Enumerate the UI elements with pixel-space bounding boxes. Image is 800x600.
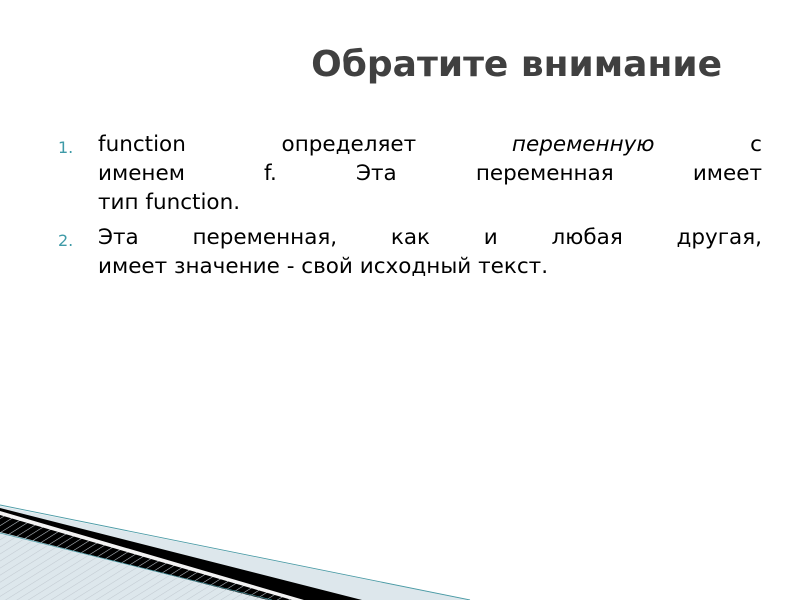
line-text: тип function. [98,190,240,215]
list-item: 2. Эта переменная, как и любая другая, и… [56,223,762,281]
decoration-outline [0,533,272,600]
slide: Обратите внимание 1. function определяет… [0,0,800,600]
decoration-band [0,506,468,600]
decoration-wedge [0,508,362,600]
list-item-line: имеет значение - свой исходный текст. [98,252,762,281]
body-list: 1. function определяет переменную с имен… [56,130,762,287]
list-marker: 2. [58,226,88,255]
list-item: 1. function определяет переменную с имен… [56,130,762,217]
decoration-outline [0,505,470,600]
line-text: function определяет [98,132,512,157]
list-item-line: именем f. Эта переменная имеет [98,159,762,188]
bottom-decoration [0,490,800,600]
decoration-hatch [0,512,300,600]
decoration-sliver [0,511,304,600]
page-title: Обратите внимание [60,44,760,85]
line-text: имеет значение - свой исходный текст. [98,254,548,279]
line-text-tail: с [654,132,762,157]
line-text: Эта переменная, как и любая другая, [98,225,762,250]
list-item-line: function определяет переменную с [98,130,762,159]
list-item-line: тип function. [98,188,762,217]
list-item-line: Эта переменная, как и любая другая, [98,223,762,252]
line-text-italic: переменную [512,132,655,157]
list-marker: 1. [58,133,88,162]
line-text: именем f. Эта переменная имеет [98,161,762,186]
